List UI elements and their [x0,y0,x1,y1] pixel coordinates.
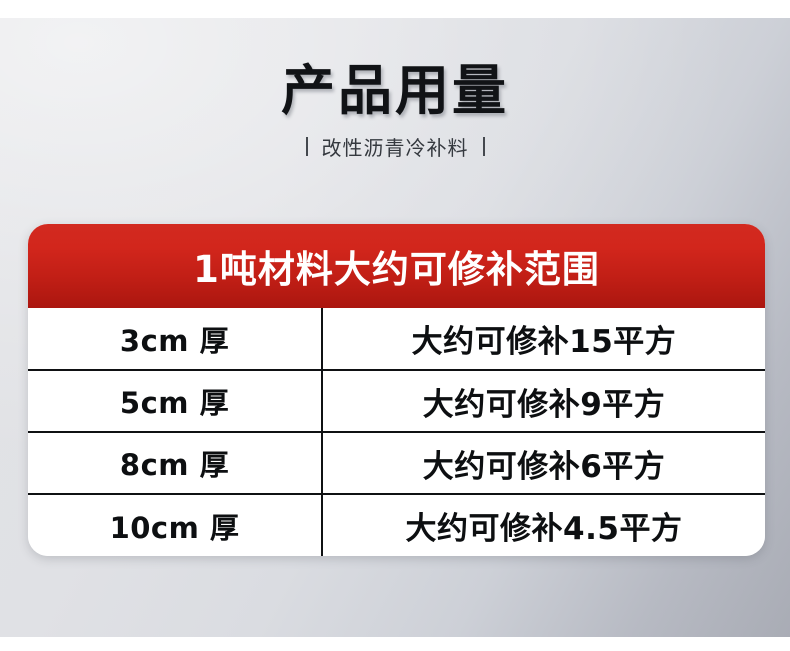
header-block: 产品用量 改性沥青冷补料 [0,62,790,161]
card-banner: 1吨材料大约可修补范围 [28,224,765,308]
subtitle-text: 改性沥青冷补料 [322,132,469,161]
spec-card: 1吨材料大约可修补范围 3cm 厚 大约可修补15平方 5cm 厚 大约可修补9… [28,224,765,556]
coverage-cell: 大约可修补15平方 [322,308,765,370]
table-row: 3cm 厚 大约可修补15平方 [28,308,765,370]
coverage-cell: 大约可修补4.5平方 [322,494,765,556]
card-banner-title: 1吨材料大约可修补范围 [193,239,600,293]
coverage-cell: 大约可修补9平方 [322,370,765,432]
product-usage-infographic: 产品用量 改性沥青冷补料 1吨材料大约可修补范围 3cm 厚 大约可修补15平方… [0,0,790,651]
coverage-table: 3cm 厚 大约可修补15平方 5cm 厚 大约可修补9平方 8cm 厚 大约可… [28,308,765,556]
page-title: 产品用量 [0,62,790,120]
subtitle-divider-right-icon [483,137,485,156]
thickness-cell: 10cm 厚 [28,494,322,556]
thickness-cell: 3cm 厚 [28,308,322,370]
table-row: 8cm 厚 大约可修补6平方 [28,432,765,494]
thickness-cell: 5cm 厚 [28,370,322,432]
table-row: 5cm 厚 大约可修补9平方 [28,370,765,432]
subtitle-row: 改性沥青冷补料 [0,132,790,161]
subtitle-divider-left-icon [306,137,308,156]
thickness-cell: 8cm 厚 [28,432,322,494]
coverage-cell: 大约可修补6平方 [322,432,765,494]
table-row: 10cm 厚 大约可修补4.5平方 [28,494,765,556]
